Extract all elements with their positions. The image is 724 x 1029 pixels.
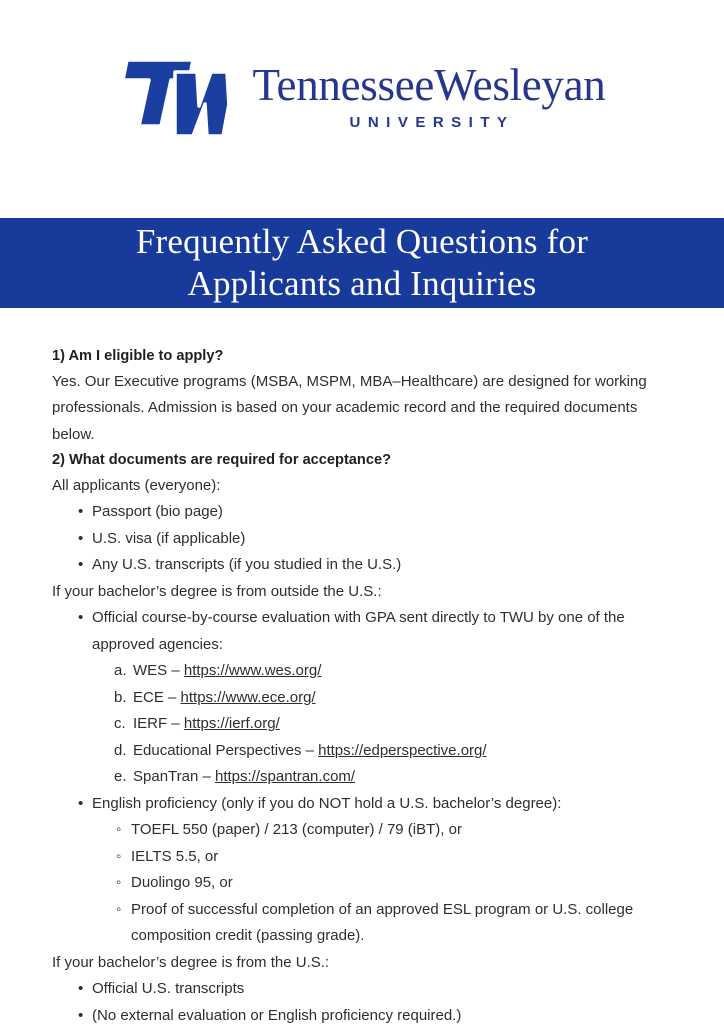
list-item: IELTS 5.5, or <box>116 844 676 871</box>
list-item: TOEFL 550 (paper) / 213 (computer) / 79 … <box>116 817 676 844</box>
agency-link-ece[interactable]: https://www.ece.org/ <box>181 689 316 706</box>
list-item: U.S. visa (if applicable) <box>78 526 676 553</box>
faq-question-1: 1) Am I eligible to apply? <box>52 344 676 369</box>
list-item: Passport (bio page) <box>78 499 676 526</box>
agency-link-ierf[interactable]: https://ierf.org/ <box>184 715 280 732</box>
page-title-line1: Frequently Asked Questions for <box>136 222 588 261</box>
agency-link-wes[interactable]: https://www.wes.org/ <box>184 662 322 679</box>
agency-link-edperspective[interactable]: https://edperspective.org/ <box>318 742 486 759</box>
logo-wordmark-group: TennesseeWesleyan UNIVERSITY <box>253 61 606 131</box>
approved-agencies-list: WES – https://www.wes.org/ ECE – https:/… <box>92 658 676 791</box>
english-options-list: TOEFL 550 (paper) / 213 (computer) / 79 … <box>92 817 676 950</box>
list-item: Official course-by-course evaluation wit… <box>78 605 676 791</box>
tw-monogram-icon <box>119 52 239 140</box>
logo-subword: UNIVERSITY <box>253 114 606 131</box>
faq-question-2: 2) What documents are required for accep… <box>52 448 676 473</box>
outside-us-list: Official course-by-course evaluation wit… <box>52 605 676 950</box>
agency-name: ECE – <box>133 689 181 706</box>
all-applicants-list: Passport (bio page) U.S. visa (if applic… <box>52 499 676 579</box>
agency-name: Educational Perspectives – <box>133 742 318 759</box>
inside-us-lead: If your bachelor’s degree is from the U.… <box>52 950 676 977</box>
page-title: Frequently Asked Questions for Applicant… <box>136 221 588 305</box>
page-title-line2: Applicants and Inquiries <box>188 264 537 303</box>
faq-content: 1) Am I eligible to apply? Yes. Our Exec… <box>0 308 724 1029</box>
inside-us-list: Official U.S. transcripts (No external e… <box>52 976 676 1029</box>
outside-us-lead: If your bachelor’s degree is from outsid… <box>52 579 676 606</box>
list-item: Educational Perspectives – https://edper… <box>114 738 676 765</box>
list-item: Any U.S. transcripts (if you studied in … <box>78 552 676 579</box>
agency-name: WES – <box>133 662 184 679</box>
list-item: IERF – https://ierf.org/ <box>114 711 676 738</box>
list-item: Duolingo 95, or <box>116 870 676 897</box>
page-banner: Frequently Asked Questions for Applicant… <box>0 218 724 308</box>
agency-name: SpanTran – <box>133 768 215 785</box>
all-applicants-lead: All applicants (everyone): <box>52 473 676 500</box>
list-item: ECE – https://www.ece.org/ <box>114 685 676 712</box>
english-proficiency-text: English proficiency (only if you do NOT … <box>92 795 561 812</box>
list-item: Proof of successful completion of an app… <box>116 897 676 950</box>
list-item: (No external evaluation or English profi… <box>78 1003 676 1029</box>
list-item: English proficiency (only if you do NOT … <box>78 791 676 950</box>
logo-wordmark: TennesseeWesleyan <box>253 63 606 109</box>
list-item: SpanTran – https://spantran.com/ <box>114 764 676 791</box>
list-item: WES – https://www.wes.org/ <box>114 658 676 685</box>
evaluation-item-text: Official course-by-course evaluation wit… <box>92 609 625 653</box>
agency-link-spantran[interactable]: https://spantran.com/ <box>215 768 355 785</box>
page-header: TennesseeWesleyan UNIVERSITY <box>0 0 724 218</box>
agency-name: IERF – <box>133 715 184 732</box>
faq-answer-1: Yes. Our Executive programs (MSBA, MSPM,… <box>52 369 660 449</box>
university-logo-lockup: TennesseeWesleyan UNIVERSITY <box>119 52 606 140</box>
list-item: Official U.S. transcripts <box>78 976 676 1003</box>
